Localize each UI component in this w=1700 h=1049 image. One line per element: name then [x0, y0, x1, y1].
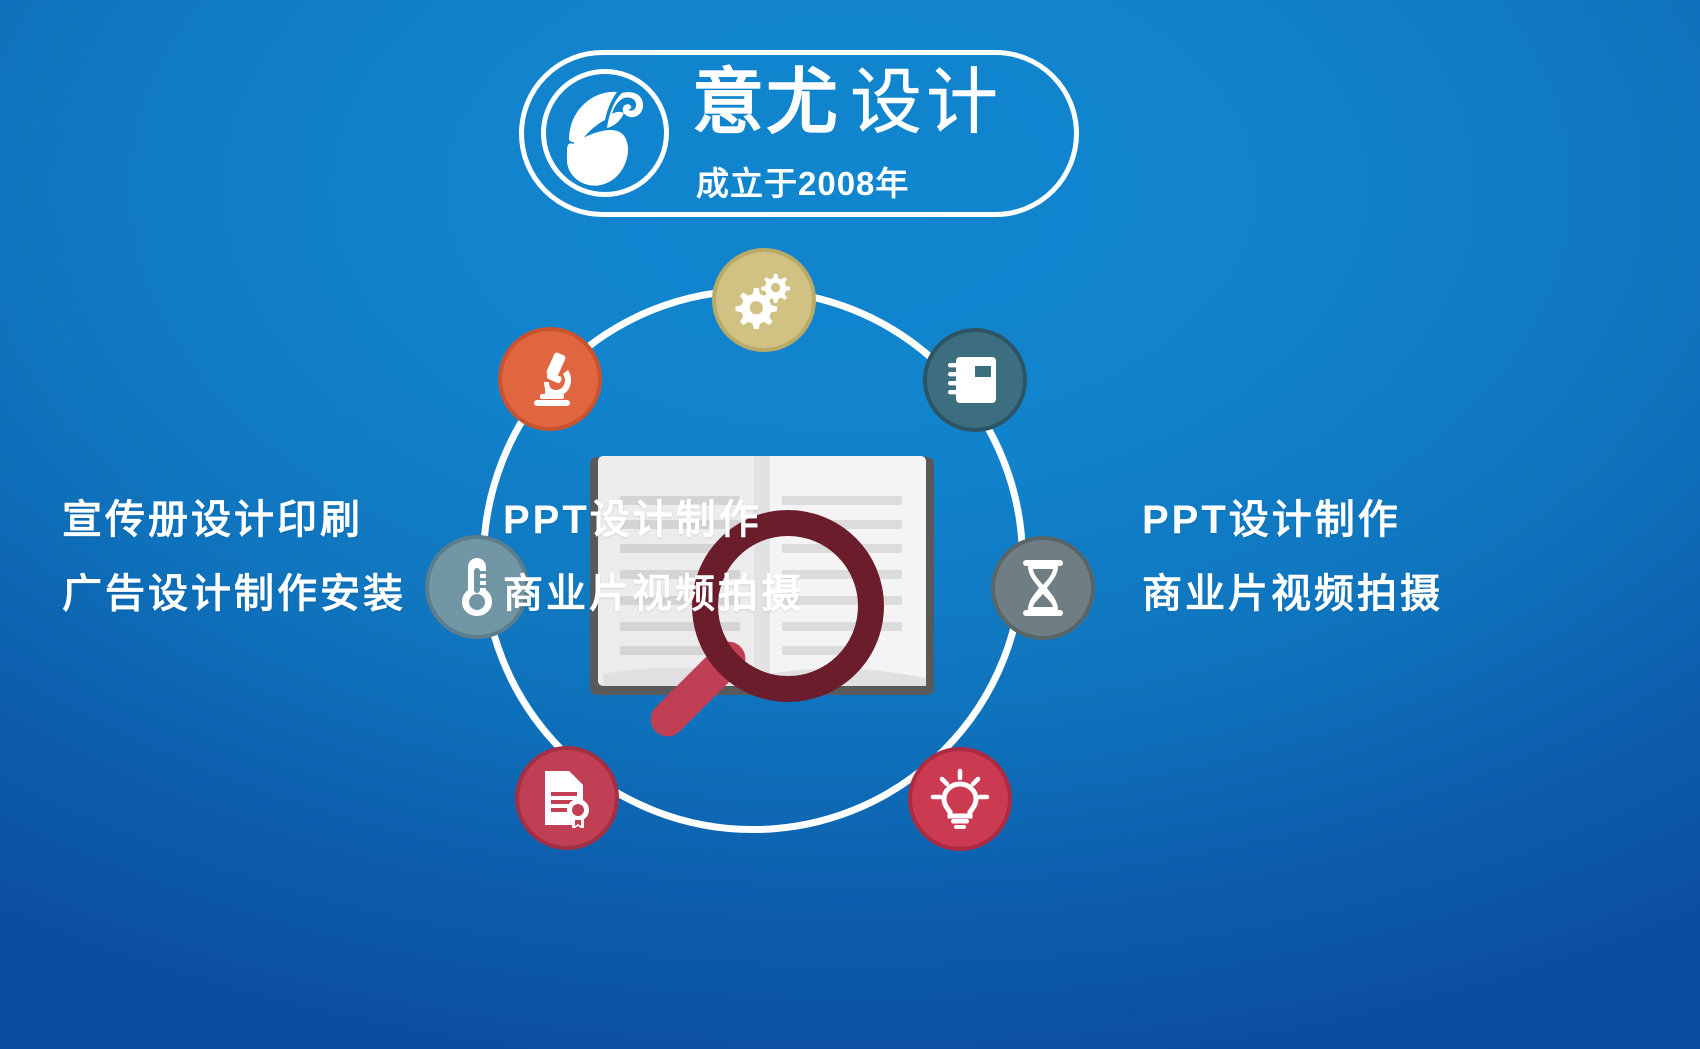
text-block-right: PPT设计制作 商业片视频拍摄 [1142, 483, 1443, 631]
notebook-icon [946, 351, 1004, 409]
text-center-line2: 商业片视频拍摄 [503, 557, 804, 631]
logo-brand-bold: 意尤 [692, 67, 840, 139]
text-right-line2: 商业片视频拍摄 [1142, 557, 1443, 631]
node-gears[interactable] [712, 248, 816, 352]
node-hourglass[interactable] [991, 536, 1095, 640]
text-right-line1: PPT设计制作 [1142, 483, 1443, 557]
gears-icon [733, 271, 795, 329]
leaf-sprout-icon [541, 69, 669, 197]
microscope-icon [520, 349, 580, 409]
certificate-document-icon [539, 768, 595, 828]
text-block-center: PPT设计制作 商业片视频拍摄 [503, 483, 804, 631]
logo-brand-thin: 设计 [850, 67, 1002, 139]
text-left-line1: 宣传册设计印刷 [62, 483, 406, 557]
text-block-left: 宣传册设计印刷 广告设计制作安装 [62, 483, 406, 631]
node-microscope[interactable] [498, 327, 602, 431]
text-left-line2: 广告设计制作安装 [62, 557, 406, 631]
node-certificate[interactable] [515, 746, 619, 850]
hourglass-icon [1018, 558, 1068, 618]
thermometer-icon [457, 556, 497, 618]
logo-wordmark: 意尤 设计 成立于2008年 [692, 67, 1072, 212]
text-center-line1: PPT设计制作 [503, 483, 804, 557]
logo-tagline: 成立于2008年 [696, 157, 909, 205]
node-notebook[interactable] [923, 328, 1027, 432]
slide-canvas: 意尤 设计 成立于2008年 [0, 0, 1700, 1049]
brand-logo: 意尤 设计 成立于2008年 [519, 50, 1079, 217]
